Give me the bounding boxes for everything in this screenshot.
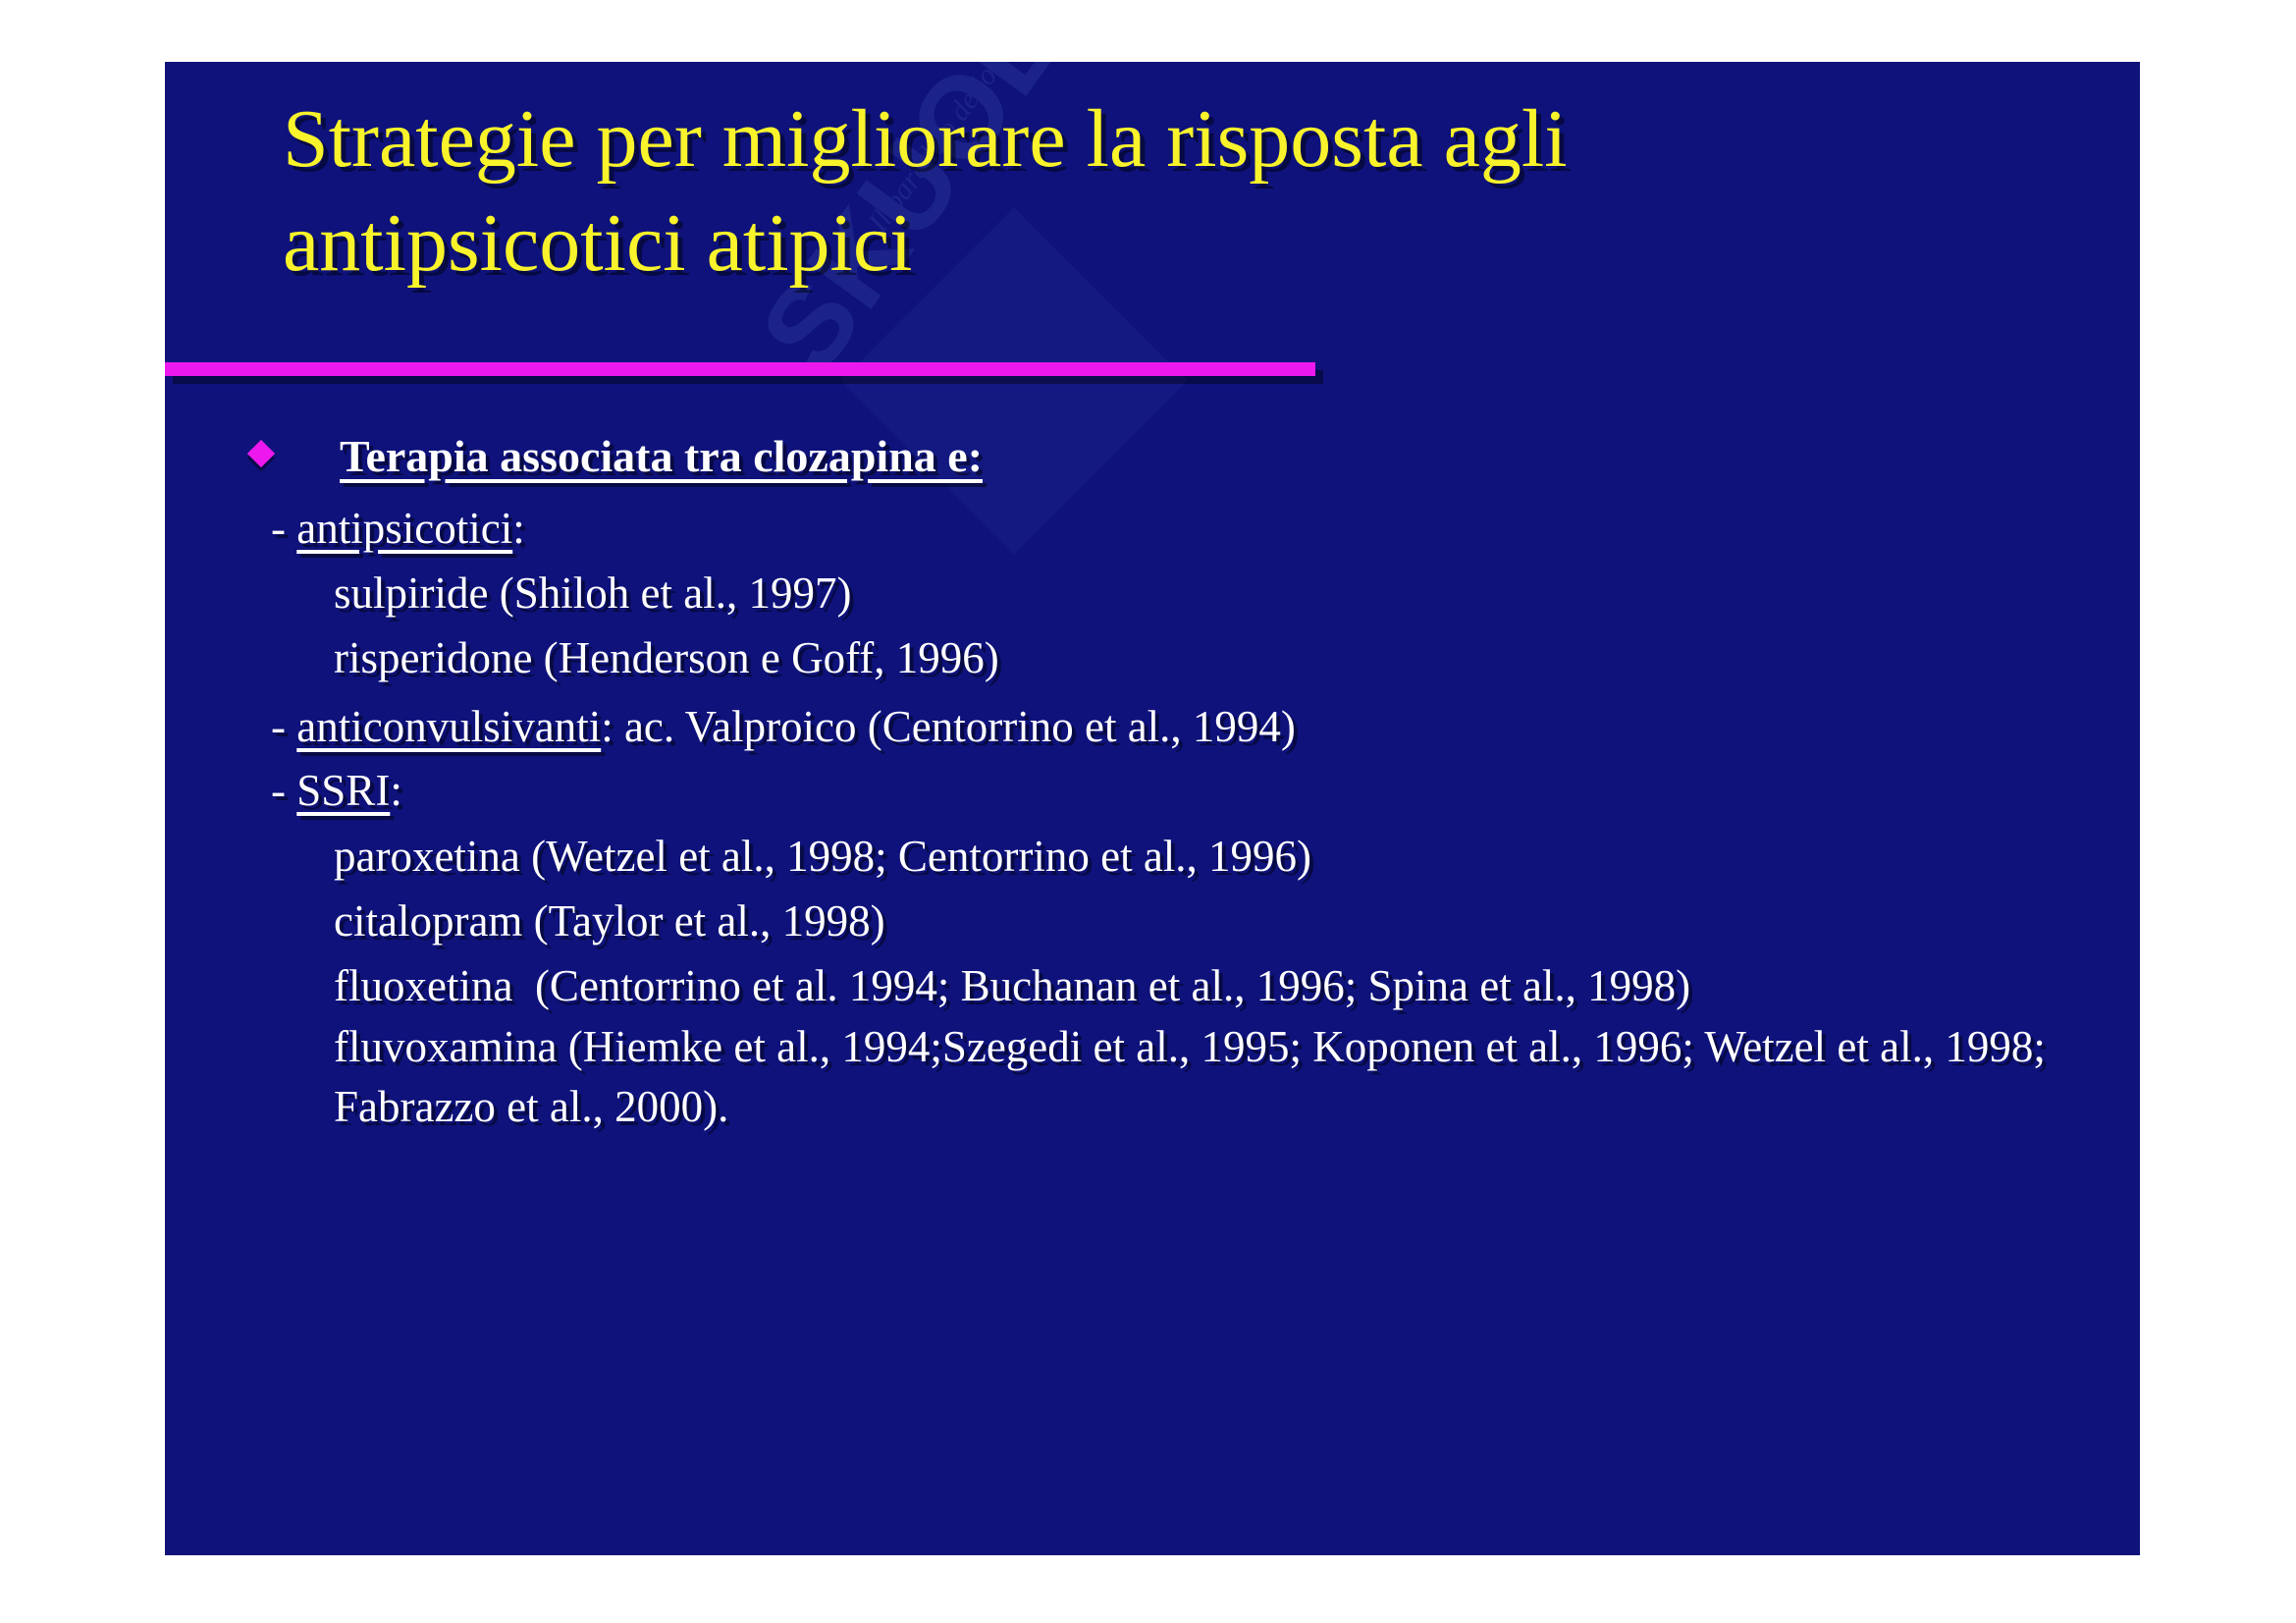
sub-suffix-antipsicotici: : (512, 504, 525, 553)
diamond-bullet-icon (247, 440, 275, 467)
slide-title-line-2: antipsicotici atipici (283, 191, 1755, 296)
sub-item-anticonvulsivanti: - anticonvulsivanti: ac. Valproico (Cent… (224, 698, 2140, 756)
sub-item-antipsicotici: - antipsicotici: (224, 500, 2140, 558)
reference-fluoxetina: fluoxetina (Centorrino et al. 1994; Buch… (224, 956, 2140, 1015)
sub-label-anticonvulsivanti: anticonvulsivanti (296, 702, 601, 751)
slide-body: Terapia associata tra clozapina e: - ant… (224, 427, 2140, 1142)
page-canvas: SKUOLA Il paradiso dello studente Strate… (0, 0, 2296, 1623)
reference-paroxetina: paroxetina (Wetzel et al., 1998; Centorr… (224, 827, 2140, 886)
title-divider (165, 362, 1323, 388)
dash-marker-ssri: - (271, 766, 296, 815)
sub-label-ssri: SSRI (296, 766, 390, 815)
title-divider-bar (165, 362, 1315, 376)
sub-suffix-anticonvulsivanti: : ac. Valproico (Centorrino et al., 1994… (601, 702, 1296, 751)
slide-title: Strategie per migliorare la risposta agl… (283, 87, 1755, 296)
bullet-item-terapia: Terapia associata tra clozapina e: (224, 427, 2140, 486)
reference-fluvoxamina: fluvoxamina (Hiemke et al., 1994;Szegedi… (224, 1017, 2140, 1136)
sub-item-ssri: - SSRI: (224, 762, 2140, 820)
bullet-label-terapia: Terapia associata tra clozapina e: (340, 431, 983, 481)
dash-marker-antipsicotici: - (271, 504, 296, 553)
sub-label-antipsicotici: antipsicotici (296, 504, 512, 553)
reference-risperidone: risperidone (Henderson e Goff, 1996) (224, 628, 2140, 687)
reference-citalopram: citalopram (Taylor et al., 1998) (224, 892, 2140, 950)
slide-title-line-1: Strategie per migliorare la risposta agl… (283, 87, 1755, 191)
presentation-slide: SKUOLA Il paradiso dello studente Strate… (165, 62, 2140, 1555)
reference-sulpiride: sulpiride (Shiloh et al., 1997) (224, 564, 2140, 622)
sub-suffix-ssri: : (390, 766, 402, 815)
dash-marker-anticonvulsivanti: - (271, 702, 296, 751)
